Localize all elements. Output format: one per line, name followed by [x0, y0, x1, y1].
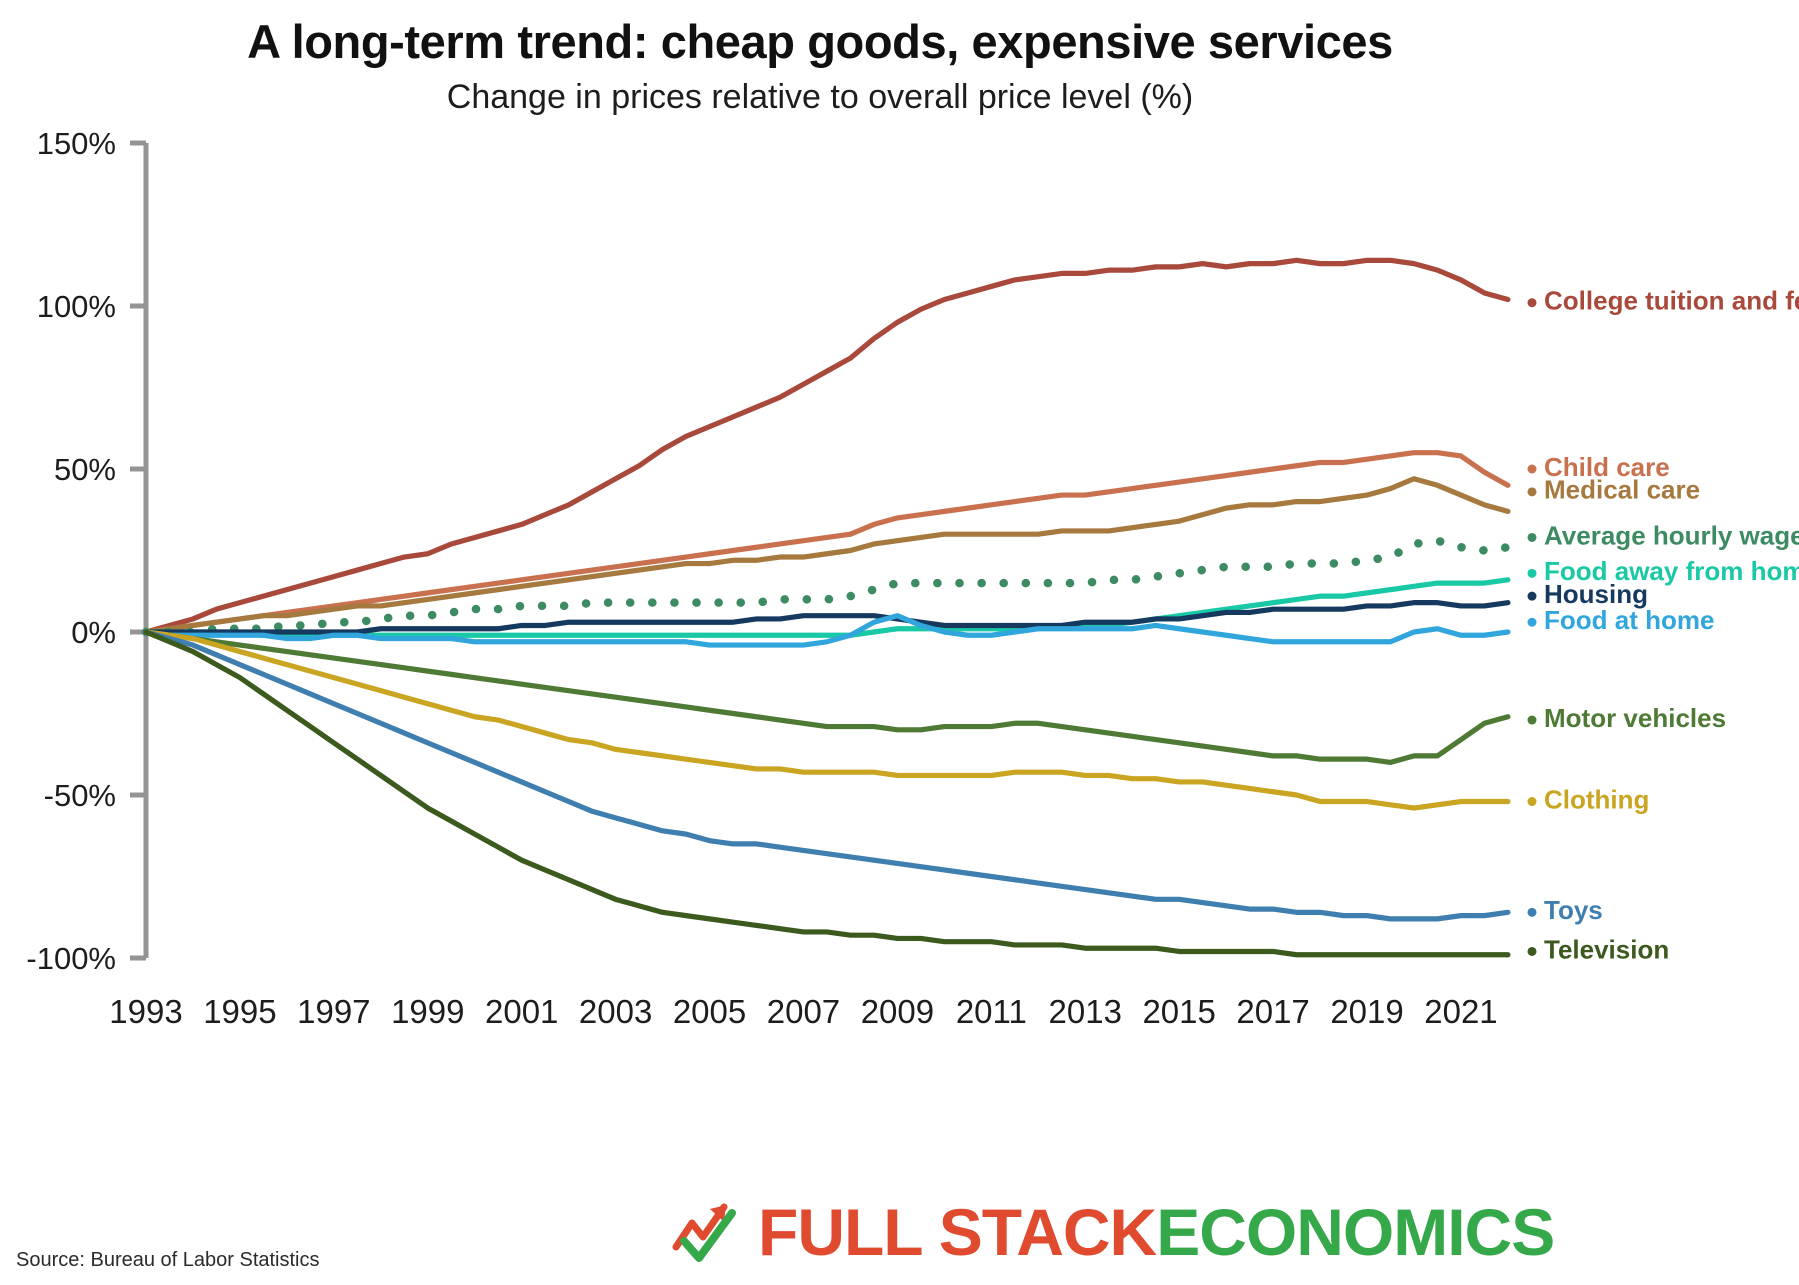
series-label-marker — [1528, 533, 1537, 542]
series-label-food-at-home: Food at home — [1544, 605, 1714, 635]
x-axis-tick-label: 1997 — [297, 993, 370, 1030]
x-axis-tick-label: 2001 — [485, 993, 558, 1030]
series-label-television: Television — [1544, 934, 1669, 964]
series-label-marker — [1528, 465, 1537, 474]
series-label-average-hourly-wages: Average hourly wages — [1544, 520, 1799, 550]
series-label-toys: Toys — [1544, 895, 1603, 925]
y-axis-tick-label: 50% — [54, 452, 116, 487]
x-axis-tick-label: 2021 — [1424, 993, 1497, 1030]
series-label-marker — [1528, 716, 1537, 725]
y-axis-tick-label: 100% — [37, 289, 116, 324]
series-label-medical-care: Medical care — [1544, 475, 1700, 505]
series-label-motor-vehicles: Motor vehicles — [1544, 703, 1726, 733]
y-axis-tick-label: -100% — [26, 941, 116, 976]
x-axis-tick-label: 1995 — [203, 993, 276, 1030]
y-axis-tick-label: 150% — [37, 126, 116, 161]
trend-arrow-check-icon — [672, 1201, 750, 1263]
chart-plot-area: 150%100%50%0%-50%-100%199319951997199920… — [0, 0, 1799, 1180]
series-line-motor-vehicles — [146, 632, 1508, 762]
series-label-marker — [1528, 797, 1537, 806]
series-line-toys — [146, 632, 1508, 919]
x-axis-tick-label: 2015 — [1142, 993, 1215, 1030]
x-axis-tick-label: 2019 — [1330, 993, 1403, 1030]
series-label-marker — [1528, 618, 1537, 627]
brand-logo: FULL STACKECONOMICS — [672, 1189, 1782, 1275]
y-axis-tick-label: -50% — [44, 778, 116, 813]
series-label-marker — [1528, 908, 1537, 917]
source-note: Source: Bureau of Labor Statistics — [16, 1249, 320, 1272]
logo-word-full-stack: FULL STACK — [758, 1195, 1156, 1269]
x-axis-tick-label: 2017 — [1236, 993, 1309, 1030]
logo-word-economics: ECONOMICS — [1156, 1195, 1554, 1269]
x-axis-tick-label: 1999 — [391, 993, 464, 1030]
series-label-marker — [1528, 298, 1537, 307]
series-label-marker — [1528, 569, 1537, 578]
x-axis-tick-label: 2013 — [1049, 993, 1122, 1030]
y-axis-tick-label: 0% — [71, 615, 116, 650]
x-axis-tick-label: 2007 — [767, 993, 840, 1030]
series-label-marker — [1528, 487, 1537, 496]
x-axis-tick-label: 2011 — [956, 993, 1027, 1030]
chart-figure: A long-term trend: cheap goods, expensiv… — [0, 0, 1799, 1285]
x-axis-tick-label: 2005 — [673, 993, 746, 1030]
series-label-clothing: Clothing — [1544, 784, 1649, 814]
x-axis-tick-label: 2003 — [579, 993, 652, 1030]
series-label-marker — [1528, 947, 1537, 956]
series-line-college-tuition-and-fees — [146, 260, 1508, 632]
series-label-marker — [1528, 592, 1537, 601]
x-axis-tick-label: 2009 — [861, 993, 934, 1030]
x-axis-tick-label: 1993 — [109, 993, 182, 1030]
series-label-college-tuition-and-fees: College tuition and fees — [1544, 286, 1799, 316]
